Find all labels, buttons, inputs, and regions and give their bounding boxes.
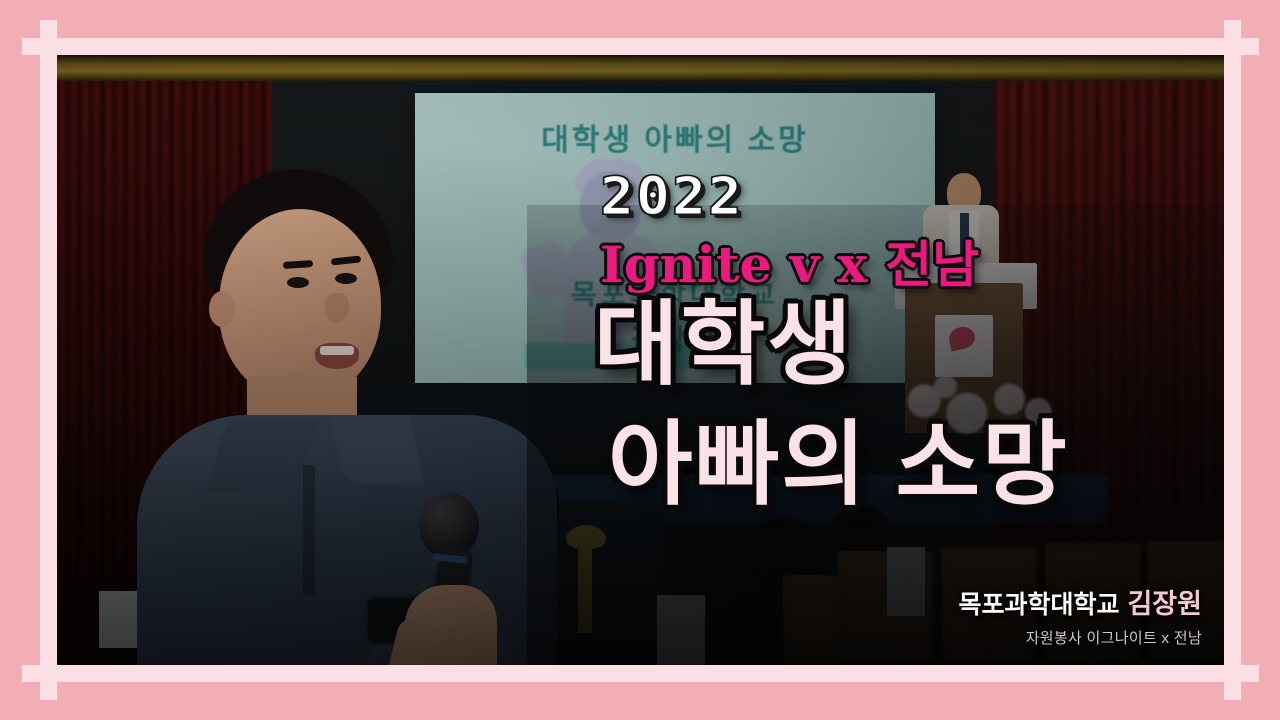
audience-sign xyxy=(657,595,705,665)
lecture-photo: 대학생 아빠의 소망 목포과학대학교 김장원 xyxy=(57,55,1224,665)
main-speaker xyxy=(147,165,547,665)
slide-title: 대학생 아빠의 소망 xyxy=(415,115,935,159)
speaker-eye xyxy=(335,273,357,284)
corner-mark-bottom-right xyxy=(1224,665,1241,682)
corner-mark-top-left-up xyxy=(40,20,57,38)
frame-bar-bottom xyxy=(57,665,1224,682)
auditorium-seat xyxy=(783,575,843,665)
podium-man-tie xyxy=(960,213,969,269)
corner-mark-top-right-up xyxy=(1224,20,1241,38)
auditorium-seat xyxy=(941,547,1037,661)
slide-illustration-head xyxy=(580,171,642,241)
corner-mark-top-right-out xyxy=(1241,38,1259,55)
corner-mark-top-left-out xyxy=(22,38,40,55)
auditorium-seat xyxy=(1045,543,1141,661)
frame-bar-left xyxy=(40,55,57,665)
corner-mark-bottom-right-down xyxy=(1224,682,1241,700)
speaker-eye xyxy=(287,277,309,288)
auditorium-seat xyxy=(1147,541,1224,661)
corner-mark-bottom-left-down xyxy=(40,682,57,700)
flower-arrangement xyxy=(885,357,1063,445)
corner-mark-top-left xyxy=(40,38,57,55)
speaker-placket xyxy=(303,465,315,595)
speaker-collar xyxy=(330,415,425,485)
audience-sign xyxy=(887,547,925,616)
speaker-ear xyxy=(209,291,235,327)
corner-mark-bottom-left xyxy=(40,665,57,682)
corner-mark-bottom-right-out xyxy=(1241,665,1259,682)
chair-gold-ribbon xyxy=(562,525,610,635)
frame-bar-top xyxy=(57,38,1224,55)
corner-mark-top-right xyxy=(1224,38,1241,55)
speaker-nose xyxy=(325,293,349,323)
stage-valance xyxy=(57,55,1224,81)
thumbnail-canvas: 대학생 아빠의 소망 목포과학대학교 김장원 xyxy=(0,0,1280,720)
speaker-mouth xyxy=(315,343,359,369)
frame-bar-right xyxy=(1224,55,1241,665)
corner-mark-bottom-left-out xyxy=(22,665,40,682)
speaker-head xyxy=(219,209,381,399)
